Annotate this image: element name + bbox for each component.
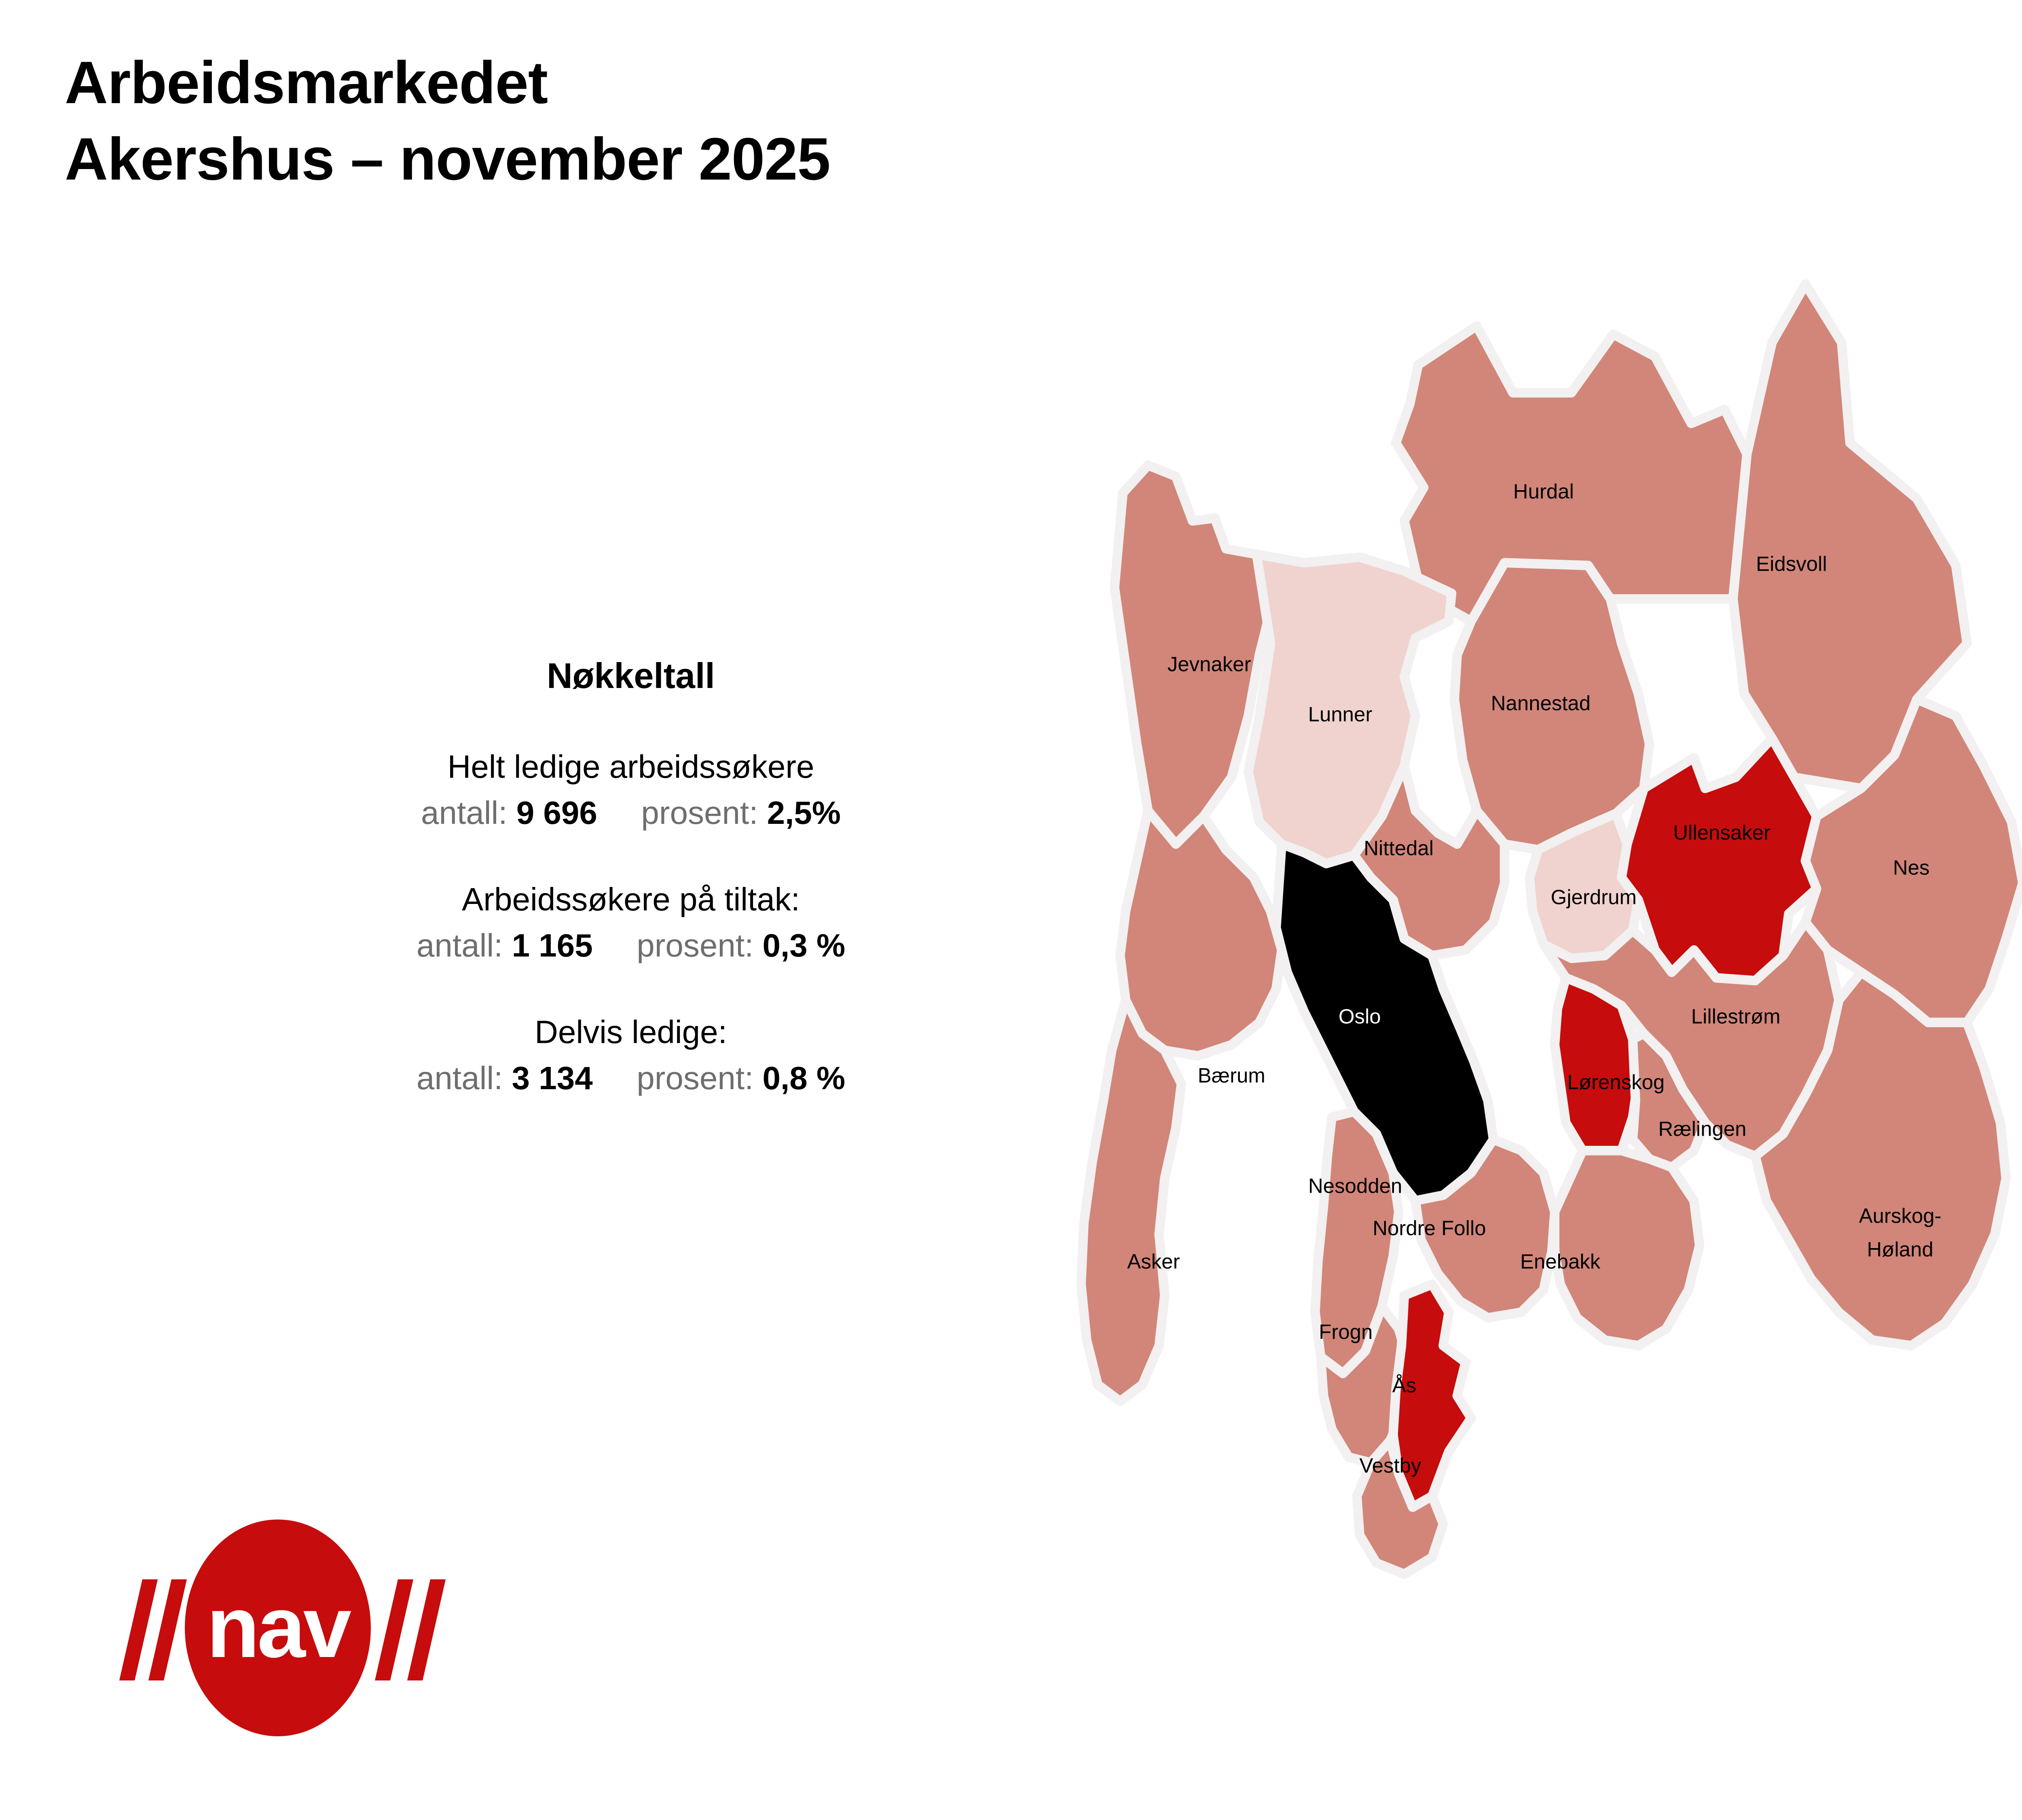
key-figure-values: antall: 1 165 prosent: 0,3 % xyxy=(332,927,930,964)
map-label-nesodden: Nesodden xyxy=(1308,1174,1402,1197)
map-region-enebakk[interactable] xyxy=(1555,1151,1699,1346)
logo-wordmark: nav xyxy=(207,1578,351,1676)
map-label-oslo: Oslo xyxy=(1339,1005,1381,1028)
map-label-jevnaker: Jevnaker xyxy=(1168,653,1251,676)
key-figure-values: antall: 9 696 prosent: 2,5% xyxy=(332,794,930,832)
map-label-gjerdrum: Gjerdrum xyxy=(1551,886,1637,909)
percent-value: 2,5% xyxy=(767,795,841,831)
key-figure-values: antall: 3 134 prosent: 0,8 % xyxy=(332,1060,930,1097)
map-label-h-land: Høland xyxy=(1867,1238,1933,1261)
key-figure-label: Helt ledige arbeidssøkere xyxy=(332,748,930,785)
map-label-nordre-follo: Nordre Follo xyxy=(1373,1217,1486,1240)
map-region-asker[interactable] xyxy=(1081,1000,1181,1401)
map-label-hurdal: Hurdal xyxy=(1513,480,1574,503)
key-figure-label: Delvis ledige: xyxy=(332,1014,930,1051)
key-figure-label: Arbeidssøkere på tiltak: xyxy=(332,881,930,918)
map-label-r-lingen: Rælingen xyxy=(1658,1117,1746,1141)
map-label-eidsvoll: Eidsvoll xyxy=(1756,552,1827,576)
map-label-aurskog-: Aurskog- xyxy=(1859,1204,1942,1227)
choropleth-map: HurdalEidsvollJevnakerLunnerNannestadNit… xyxy=(914,133,2022,1711)
count-label: antall: xyxy=(421,795,507,831)
percent-label: prosent: xyxy=(637,927,753,963)
map-label-frogn: Frogn xyxy=(1319,1320,1373,1343)
map-label-vestby: Vestby xyxy=(1359,1454,1421,1477)
nav-logo: nav xyxy=(103,1515,467,1741)
key-figures-heading: Nøkkeltall xyxy=(332,655,930,696)
key-figure-group: Arbeidssøkere på tiltak: antall: 1 165 p… xyxy=(332,881,930,964)
logo-slashes-left xyxy=(119,1579,187,1680)
map-label-nittedal: Nittedal xyxy=(1364,836,1434,859)
percent-value: 0,8 % xyxy=(763,1060,846,1096)
logo-slashes-right xyxy=(375,1579,446,1680)
map-label-b-rum: Bærum xyxy=(1198,1064,1265,1087)
count-label: antall: xyxy=(417,927,503,963)
key-figure-group: Delvis ledige: antall: 3 134 prosent: 0,… xyxy=(332,1014,930,1097)
map-label-nes: Nes xyxy=(1893,856,1930,879)
count-value: 1 165 xyxy=(512,927,593,963)
map-label-enebakk: Enebakk xyxy=(1520,1250,1601,1273)
percent-value: 0,3 % xyxy=(763,927,846,963)
map-label-nannestad: Nannestad xyxy=(1491,692,1591,715)
percent-label: prosent: xyxy=(637,1060,753,1096)
title-line-1: Arbeidsmarkedet xyxy=(65,44,1359,121)
count-value: 9 696 xyxy=(516,795,597,831)
percent-label: prosent: xyxy=(641,795,758,831)
map-label-asker: Asker xyxy=(1127,1250,1180,1273)
map-label-l-renskog: Lørenskog xyxy=(1567,1071,1665,1094)
map-region-barum[interactable] xyxy=(1120,811,1282,1056)
key-figures-panel: Nøkkeltall Helt ledige arbeidssøkere ant… xyxy=(332,655,930,1097)
map-region-lorenskog[interactable] xyxy=(1555,978,1638,1151)
map-label-lillestr-m: Lillestrøm xyxy=(1691,1005,1781,1028)
count-value: 3 134 xyxy=(512,1060,593,1096)
map-label-lunner: Lunner xyxy=(1308,703,1373,726)
count-label: antall: xyxy=(417,1060,503,1096)
map-label--s: Ås xyxy=(1392,1374,1416,1397)
map-label-ullensaker: Ullensaker xyxy=(1673,821,1770,844)
key-figure-group: Helt ledige arbeidssøkere antall: 9 696 … xyxy=(332,748,930,832)
